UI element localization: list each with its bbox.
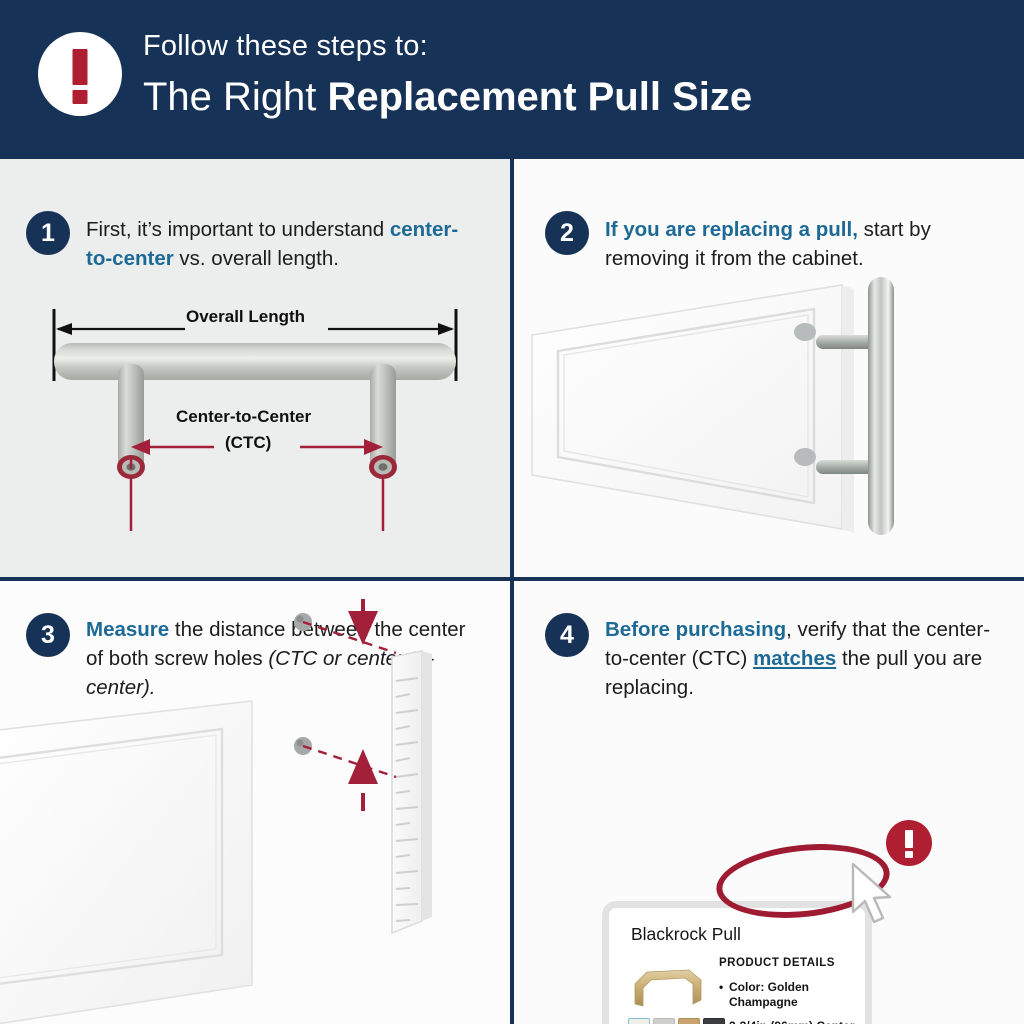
step-panel-3: 3 Measure the distance between the cente… xyxy=(0,581,510,1024)
exclamation-bar xyxy=(73,49,88,85)
header-title: The Right Replacement Pull Size xyxy=(143,75,752,120)
product-swatches[interactable] xyxy=(628,1018,725,1024)
header-title-bold: Replacement Pull Size xyxy=(328,75,753,119)
product-title: Blackrock Pull xyxy=(631,924,741,945)
product-detail-ctc: 3-3/4in (96mm) Center-to-Center xyxy=(719,1019,869,1024)
infographic-page: Follow these steps to: The Right Replace… xyxy=(0,0,1024,1024)
step-panel-4: 4 Before purchasing, verify that the cen… xyxy=(514,581,1024,1024)
step-panel-2: 2 If you are replacing a pull, start by … xyxy=(514,159,1024,577)
exclamation-icon xyxy=(38,32,122,116)
swatch-2[interactable] xyxy=(678,1018,700,1024)
matches-link[interactable]: matches xyxy=(753,647,836,670)
step4-part0: Before purchasing xyxy=(605,618,786,641)
product-details-heading: PRODUCT DETAILS xyxy=(719,957,835,969)
step-panel-1: 1 First, it’s important to understand ce… xyxy=(0,159,510,577)
alert-exclamation-dot xyxy=(905,851,913,858)
swatch-0[interactable] xyxy=(628,1018,650,1024)
alert-badge-icon xyxy=(886,820,932,866)
pull-dimension-diagram: Overall Length Center-to-Center (CTC) xyxy=(0,159,510,577)
product-details-list: Color: Golden Champagne 3-3/4in (96mm) C… xyxy=(719,980,869,1024)
header-eyebrow: Follow these steps to: xyxy=(143,30,428,63)
header-banner: Follow these steps to: The Right Replace… xyxy=(0,0,1024,156)
exclamation-dot xyxy=(73,90,88,104)
ctc-abbrev-label: (CTC) xyxy=(219,433,277,453)
swatch-1[interactable] xyxy=(653,1018,675,1024)
step-number-4: 4 xyxy=(545,613,589,657)
alert-exclamation-bar xyxy=(905,830,913,848)
overall-length-label: Overall Length xyxy=(180,307,311,327)
product-thumbnail-icon xyxy=(627,956,709,1012)
mouse-cursor-icon xyxy=(849,862,901,928)
step-text-4: Before purchasing, verify that the cente… xyxy=(605,615,1005,702)
product-card: Blackrock Pull xyxy=(602,901,872,1024)
header-title-light: The Right xyxy=(143,75,328,119)
pull-diagram-svg xyxy=(0,159,510,577)
ctc-label: Center-to-Center xyxy=(170,407,317,427)
product-detail-color: Color: Golden Champagne xyxy=(719,980,869,1010)
measuring-illustration xyxy=(0,581,510,1024)
cabinet-door-illustration xyxy=(514,159,1024,577)
